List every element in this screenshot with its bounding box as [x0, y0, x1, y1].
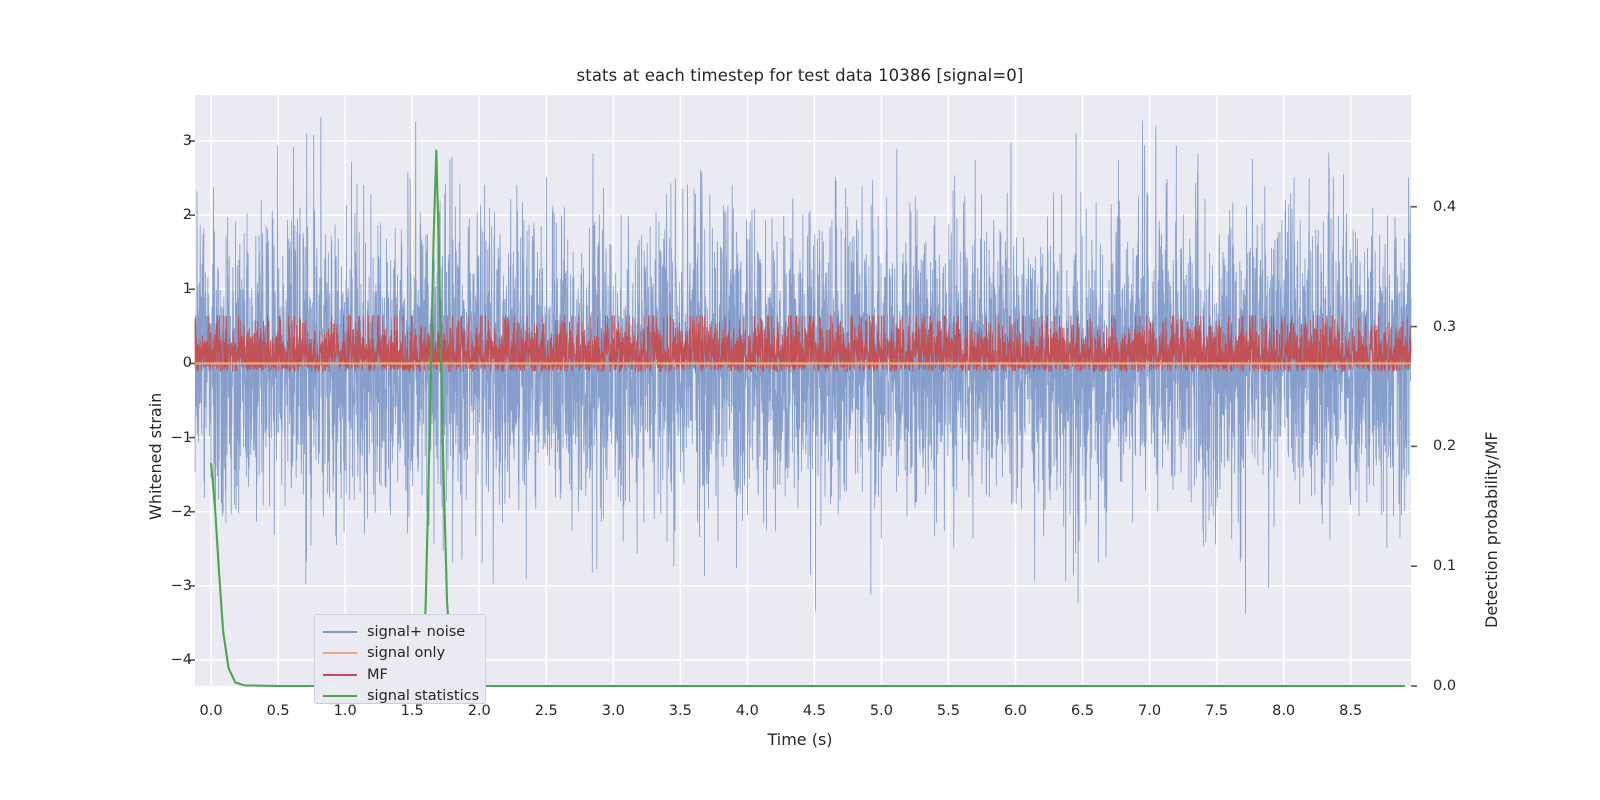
legend-item[interactable]: signal+ noise	[323, 621, 477, 643]
plot-canvas	[0, 0, 1600, 800]
x-tick-label: 3.0	[602, 703, 625, 719]
x-tick-label: 5.0	[870, 703, 893, 719]
legend-item-label: signal+ noise	[367, 624, 465, 640]
y-axis-label-right: Detection probability/MF	[1482, 228, 1501, 628]
x-tick-label: 7.0	[1138, 703, 1161, 719]
y-tick-label-right: 0.3	[1433, 319, 1456, 335]
x-tick-label: 5.5	[937, 703, 960, 719]
legend-color-swatch	[323, 631, 357, 633]
y-axis-label-left: Whitened strain	[146, 220, 165, 520]
x-tick-label: 3.5	[669, 703, 692, 719]
x-tick-label: 0.5	[267, 703, 290, 719]
legend-item[interactable]: MF	[323, 664, 477, 686]
legend-item-label: MF	[367, 667, 388, 683]
x-tick-label: 6.5	[1071, 703, 1094, 719]
x-tick-label: 4.0	[736, 703, 759, 719]
y-tick-label-left: −2	[171, 504, 192, 520]
legend-item[interactable]: signal statistics	[323, 686, 477, 708]
y-tick-label-left: 3	[183, 133, 192, 149]
x-axis-label: Time (s)	[0, 730, 1600, 749]
x-tick-label: 4.5	[803, 703, 826, 719]
y-tick-label-left: −4	[171, 652, 192, 668]
matplotlib-figure: stats at each timestep for test data 103…	[0, 0, 1600, 800]
x-tick-label: 6.0	[1004, 703, 1027, 719]
x-tick-label: 0.0	[200, 703, 223, 719]
y-tick-label-right: 0.4	[1433, 199, 1456, 215]
x-tick-label: 2.5	[535, 703, 558, 719]
x-tick-label: 8.5	[1339, 703, 1362, 719]
y-tick-label-right: 0.0	[1433, 678, 1456, 694]
legend-color-swatch	[323, 652, 357, 654]
y-tick-label-left: −1	[171, 430, 192, 446]
y-tick-label-right: 0.2	[1433, 438, 1456, 454]
legend-item-label: signal statistics	[367, 688, 479, 704]
x-tick-label: 7.5	[1205, 703, 1228, 719]
y-tick-label-left: −3	[171, 578, 192, 594]
y-tick-label-left: 1	[183, 281, 192, 297]
y-tick-label-left: 0	[183, 355, 192, 371]
legend-item[interactable]: signal only	[323, 643, 477, 665]
legend-color-swatch	[323, 695, 357, 697]
legend-item-label: signal only	[367, 645, 445, 661]
y-tick-label-right: 0.1	[1433, 558, 1456, 574]
y-tick-label-left: 2	[183, 207, 192, 223]
chart-title: stats at each timestep for test data 103…	[0, 66, 1600, 85]
x-tick-label: 8.0	[1272, 703, 1295, 719]
legend-color-swatch	[323, 674, 357, 676]
chart-legend[interactable]: signal+ noisesignal onlyMFsignal statist…	[314, 614, 486, 704]
